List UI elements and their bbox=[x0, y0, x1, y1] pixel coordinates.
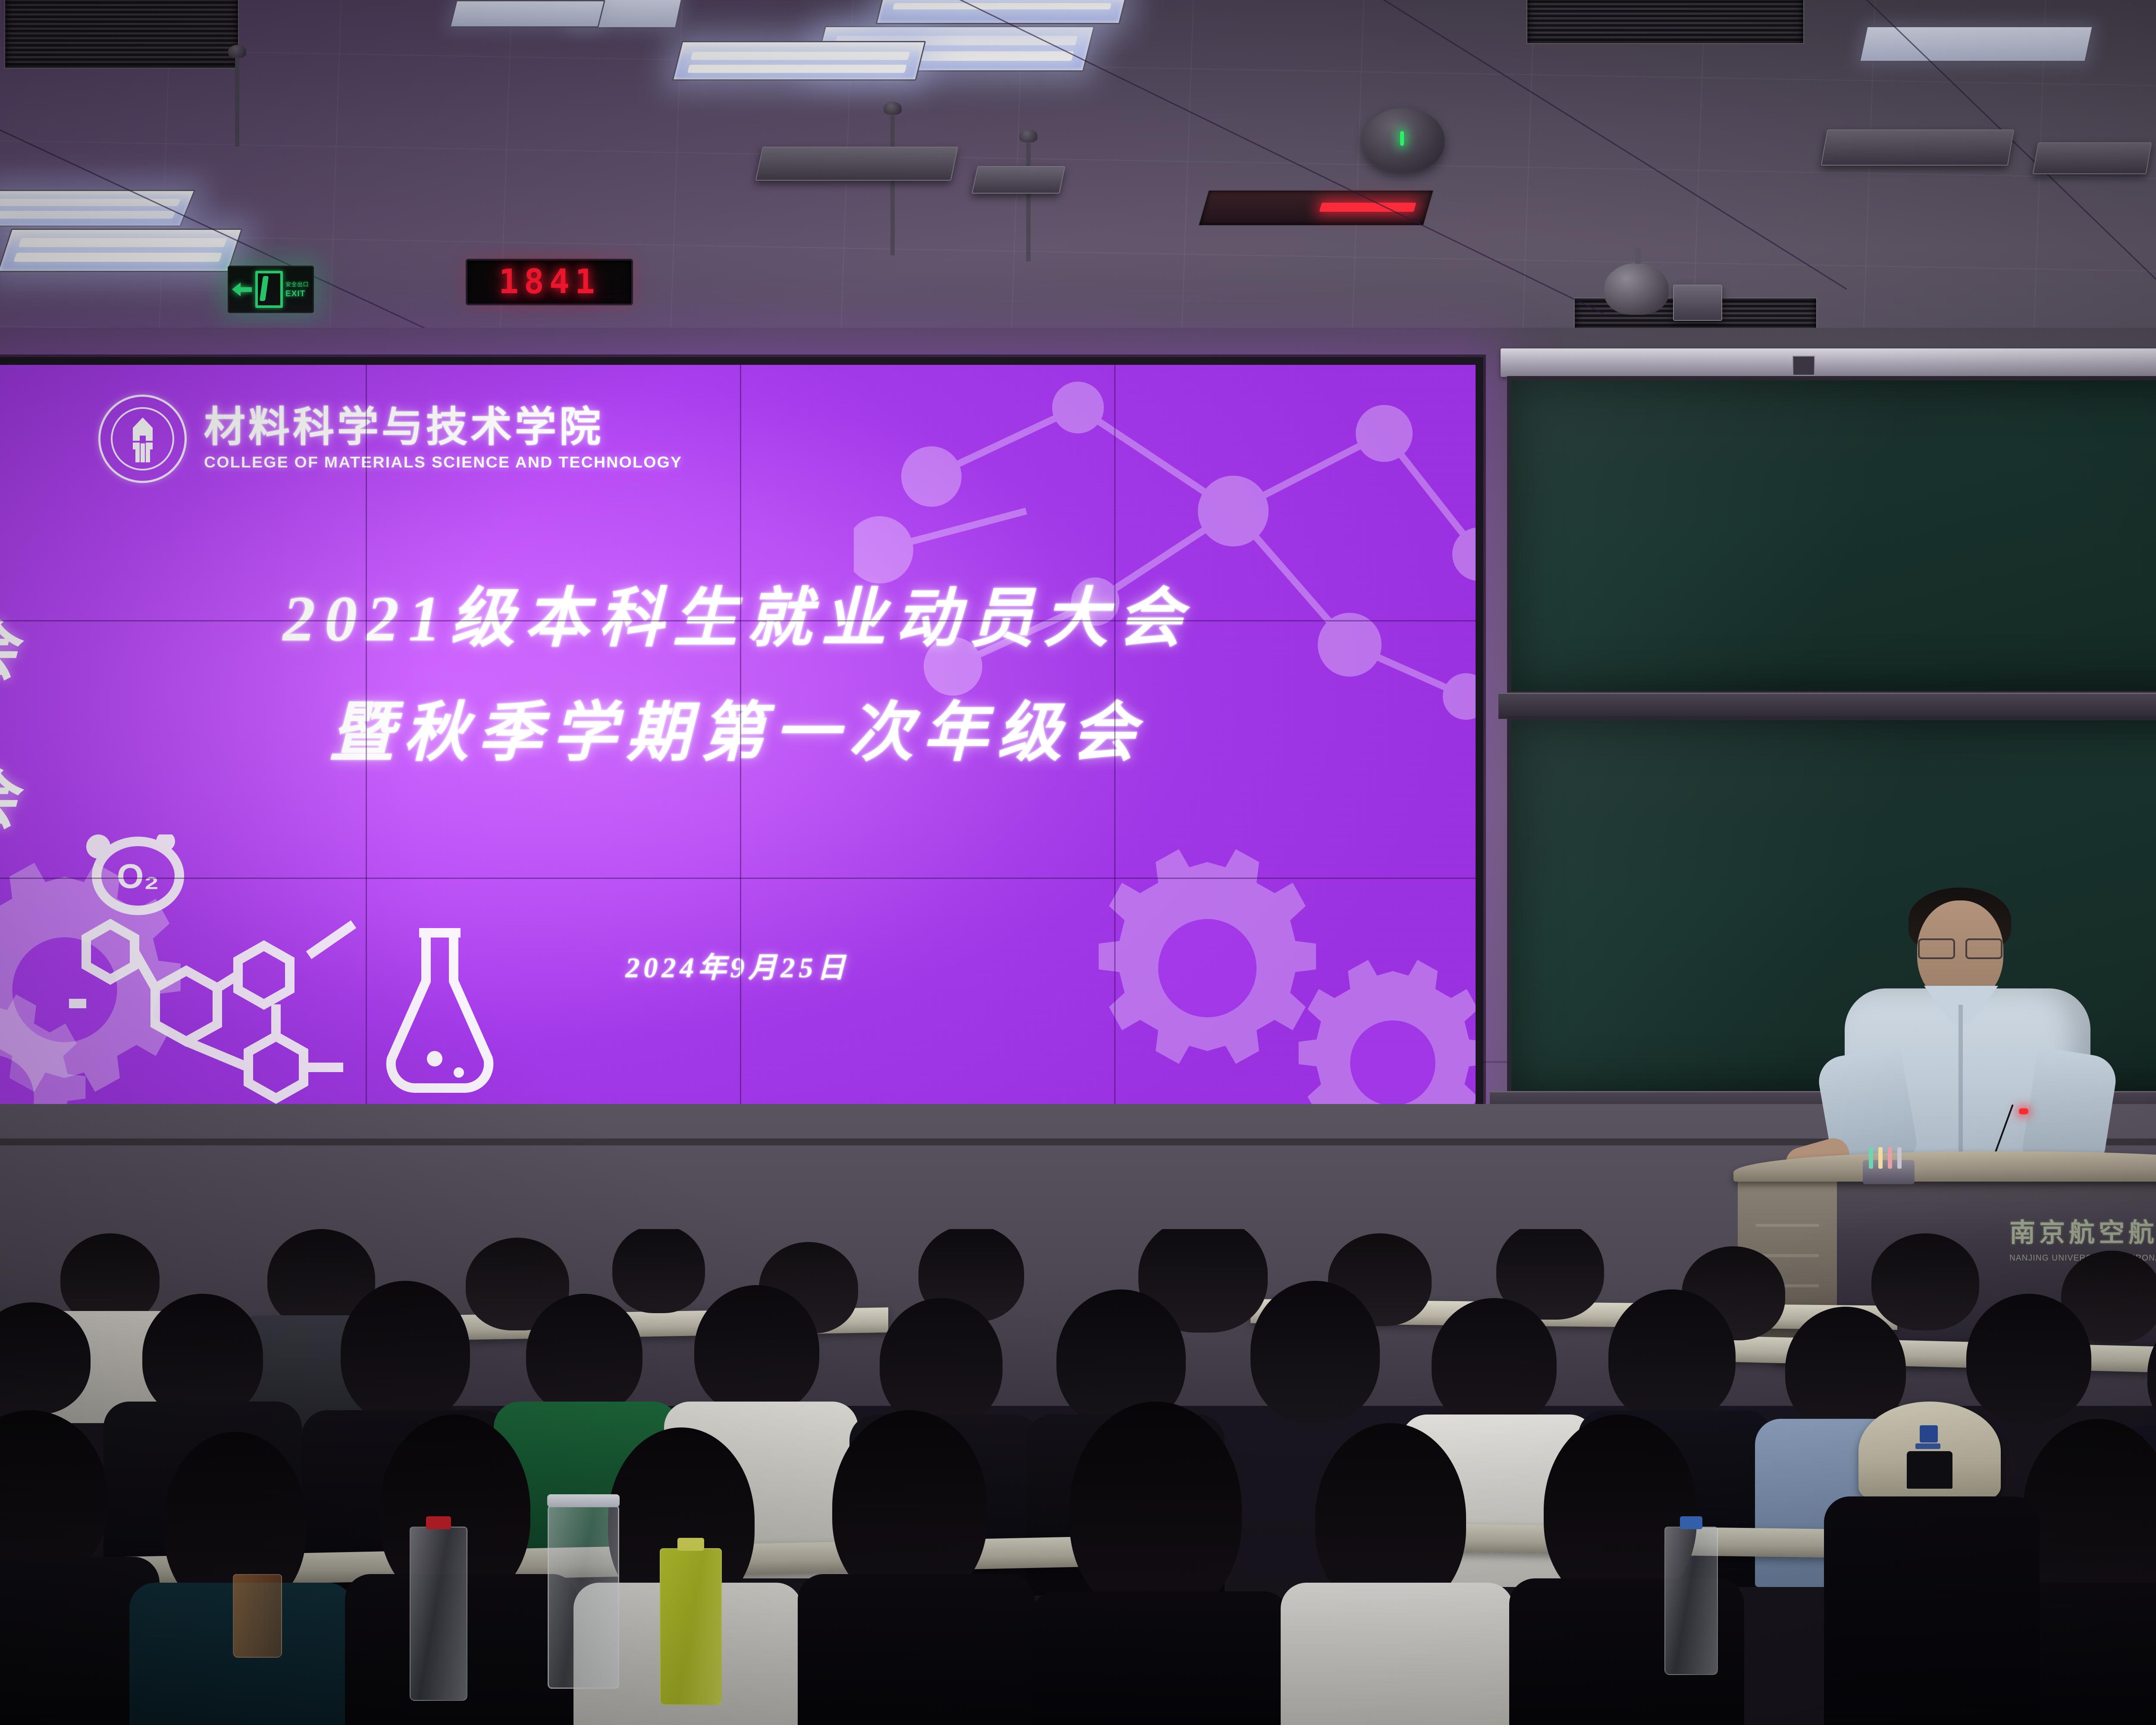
recessed-panel-light bbox=[0, 229, 242, 272]
audience-torso bbox=[798, 1574, 1035, 1725]
audience-area bbox=[0, 1229, 2156, 1725]
wall-digital-clock: 1841 bbox=[466, 259, 633, 305]
blackboard-upper-panel bbox=[1507, 376, 2156, 695]
exit-sign-label-cn: 安全出口 bbox=[285, 280, 309, 288]
baseball-cap bbox=[1858, 1402, 2001, 1501]
bottle-cap bbox=[1680, 1516, 1703, 1529]
chalk-stick bbox=[1897, 1147, 1902, 1169]
audience-head bbox=[60, 1233, 160, 1324]
cap-snapback-gap bbox=[1907, 1451, 1952, 1489]
sprinkler-head bbox=[1026, 141, 1031, 261]
equipment-box bbox=[1821, 129, 2015, 166]
glasses-icon bbox=[1918, 938, 2002, 956]
recessed-panel-light bbox=[672, 41, 926, 81]
podium-top-surface bbox=[1733, 1151, 2156, 1182]
cap-logo bbox=[1920, 1425, 1938, 1443]
chalk-stick bbox=[1888, 1147, 1892, 1169]
audience-head bbox=[142, 1294, 263, 1419]
emergency-exit-sign: 安全出口 EXIT bbox=[228, 266, 314, 313]
recessed-panel-light bbox=[449, 0, 605, 28]
audience-torso bbox=[1031, 1591, 1289, 1725]
ceiling bbox=[0, 0, 2156, 354]
led-scanlines bbox=[0, 364, 1483, 1136]
green-tea-bottle bbox=[660, 1548, 722, 1705]
projector-mount bbox=[971, 166, 1065, 194]
chalk-stick bbox=[1878, 1147, 1883, 1169]
audience-head bbox=[694, 1285, 819, 1414]
audience-head bbox=[1069, 1402, 1242, 1617]
audience-head bbox=[2022, 1419, 2156, 1609]
sprinkler-head bbox=[235, 56, 239, 147]
audience-head bbox=[1966, 1294, 2091, 1423]
drink-cup bbox=[233, 1574, 282, 1658]
recessed-panel-light bbox=[1859, 26, 2093, 62]
projector-mount bbox=[755, 147, 959, 181]
bottle-cap bbox=[677, 1538, 704, 1551]
running-man-exit-icon bbox=[255, 271, 283, 308]
tumbler-lid bbox=[547, 1494, 620, 1507]
audience-head bbox=[1250, 1281, 1380, 1423]
dome-camera bbox=[1604, 263, 1669, 315]
indicator-light-panel bbox=[1198, 190, 1434, 226]
clock-digits: 1841 bbox=[498, 263, 600, 301]
blackboard-top-rail bbox=[1501, 348, 2156, 377]
audience-head bbox=[1432, 1298, 1557, 1427]
audience-torso bbox=[1824, 1496, 2040, 1725]
led-video-wall: O₂ 会 会 材 bbox=[0, 364, 1483, 1136]
air-vent bbox=[4, 0, 239, 69]
audience-head bbox=[1871, 1233, 1979, 1330]
lecture-hall-photo: 1841 安全出口 EXIT bbox=[0, 0, 2156, 1725]
audience-head bbox=[526, 1294, 642, 1414]
blackboard-divider-ledge bbox=[1498, 693, 2156, 719]
bottle-cap bbox=[426, 1516, 451, 1529]
water-bottle bbox=[410, 1527, 467, 1701]
audience-head bbox=[341, 1281, 470, 1423]
audience-head bbox=[880, 1298, 1003, 1427]
microphone-indicator-led bbox=[2019, 1108, 2028, 1114]
chalk-stick bbox=[1869, 1147, 1873, 1169]
arrow-left-icon bbox=[232, 280, 253, 299]
audience-torso bbox=[1281, 1583, 1514, 1725]
chalk-holder bbox=[1863, 1160, 1915, 1184]
sprinkler-head bbox=[890, 113, 895, 255]
glass-tumbler bbox=[548, 1505, 619, 1689]
air-vent bbox=[1526, 0, 1804, 44]
presenter bbox=[1833, 867, 2109, 1195]
exit-sign-label-en: EXIT bbox=[285, 289, 309, 299]
cap-logo-text bbox=[1915, 1443, 1940, 1449]
water-bottle bbox=[1664, 1527, 1718, 1675]
audience-head bbox=[612, 1229, 705, 1313]
audience-head bbox=[1608, 1289, 1736, 1423]
equipment-box bbox=[2032, 142, 2152, 174]
smoke-detector-dome bbox=[1363, 108, 1445, 172]
wall-mounted-device bbox=[1673, 285, 1722, 321]
